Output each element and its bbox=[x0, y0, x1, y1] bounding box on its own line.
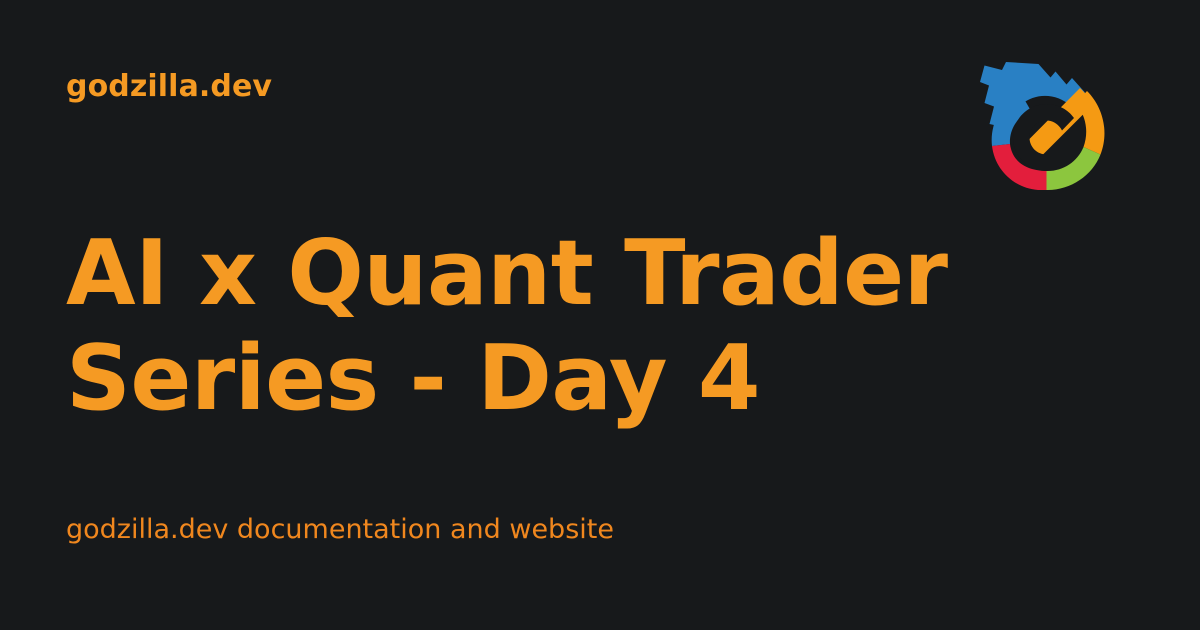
godzilla-g-logo-icon bbox=[976, 62, 1116, 198]
logo-segment-green bbox=[1047, 147, 1101, 190]
page-title-line-1: AI x Quant Trader bbox=[66, 221, 946, 326]
site-name: godzilla.dev bbox=[66, 70, 272, 103]
page-title-line-2: Series - Day 4 bbox=[66, 326, 946, 431]
site-description: godzilla.dev documentation and website bbox=[66, 513, 614, 547]
godzilla-g-logo bbox=[976, 62, 1116, 198]
page-title: AI x Quant Trader Series - Day 4 bbox=[66, 221, 946, 431]
open-graph-card: godzilla.dev AI x Quant Trader Series - … bbox=[0, 0, 1200, 630]
